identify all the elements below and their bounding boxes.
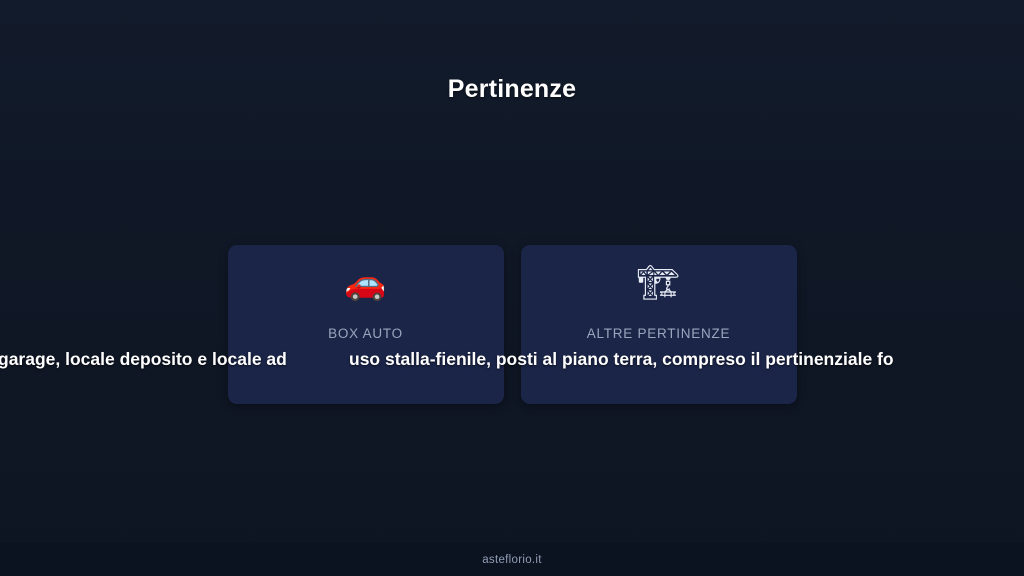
option-card-label-box-auto: BOX AUTO — [328, 326, 403, 341]
app-root: Pertinenze 🚗 BOX AUTO 🏗 ALTRE PERTINENZE… — [0, 0, 1024, 576]
option-card-box-auto[interactable]: 🚗 BOX AUTO — [228, 245, 504, 404]
page-title: Pertinenze — [0, 75, 1024, 104]
building-construction-icon: 🏗 — [637, 261, 680, 305]
car-icon: 🚗 — [344, 261, 386, 305]
option-card-label-altre-pertinenze: ALTRE PERTINENZE — [587, 326, 731, 341]
option-card-list: 🚗 BOX AUTO 🏗 ALTRE PERTINENZE — [0, 245, 1024, 404]
option-card-altre-pertinenze[interactable]: 🏗 ALTRE PERTINENZE — [521, 245, 797, 404]
footer-bar: asteflorio.it — [0, 543, 1024, 576]
footer-site-label: asteflorio.it — [482, 554, 542, 566]
